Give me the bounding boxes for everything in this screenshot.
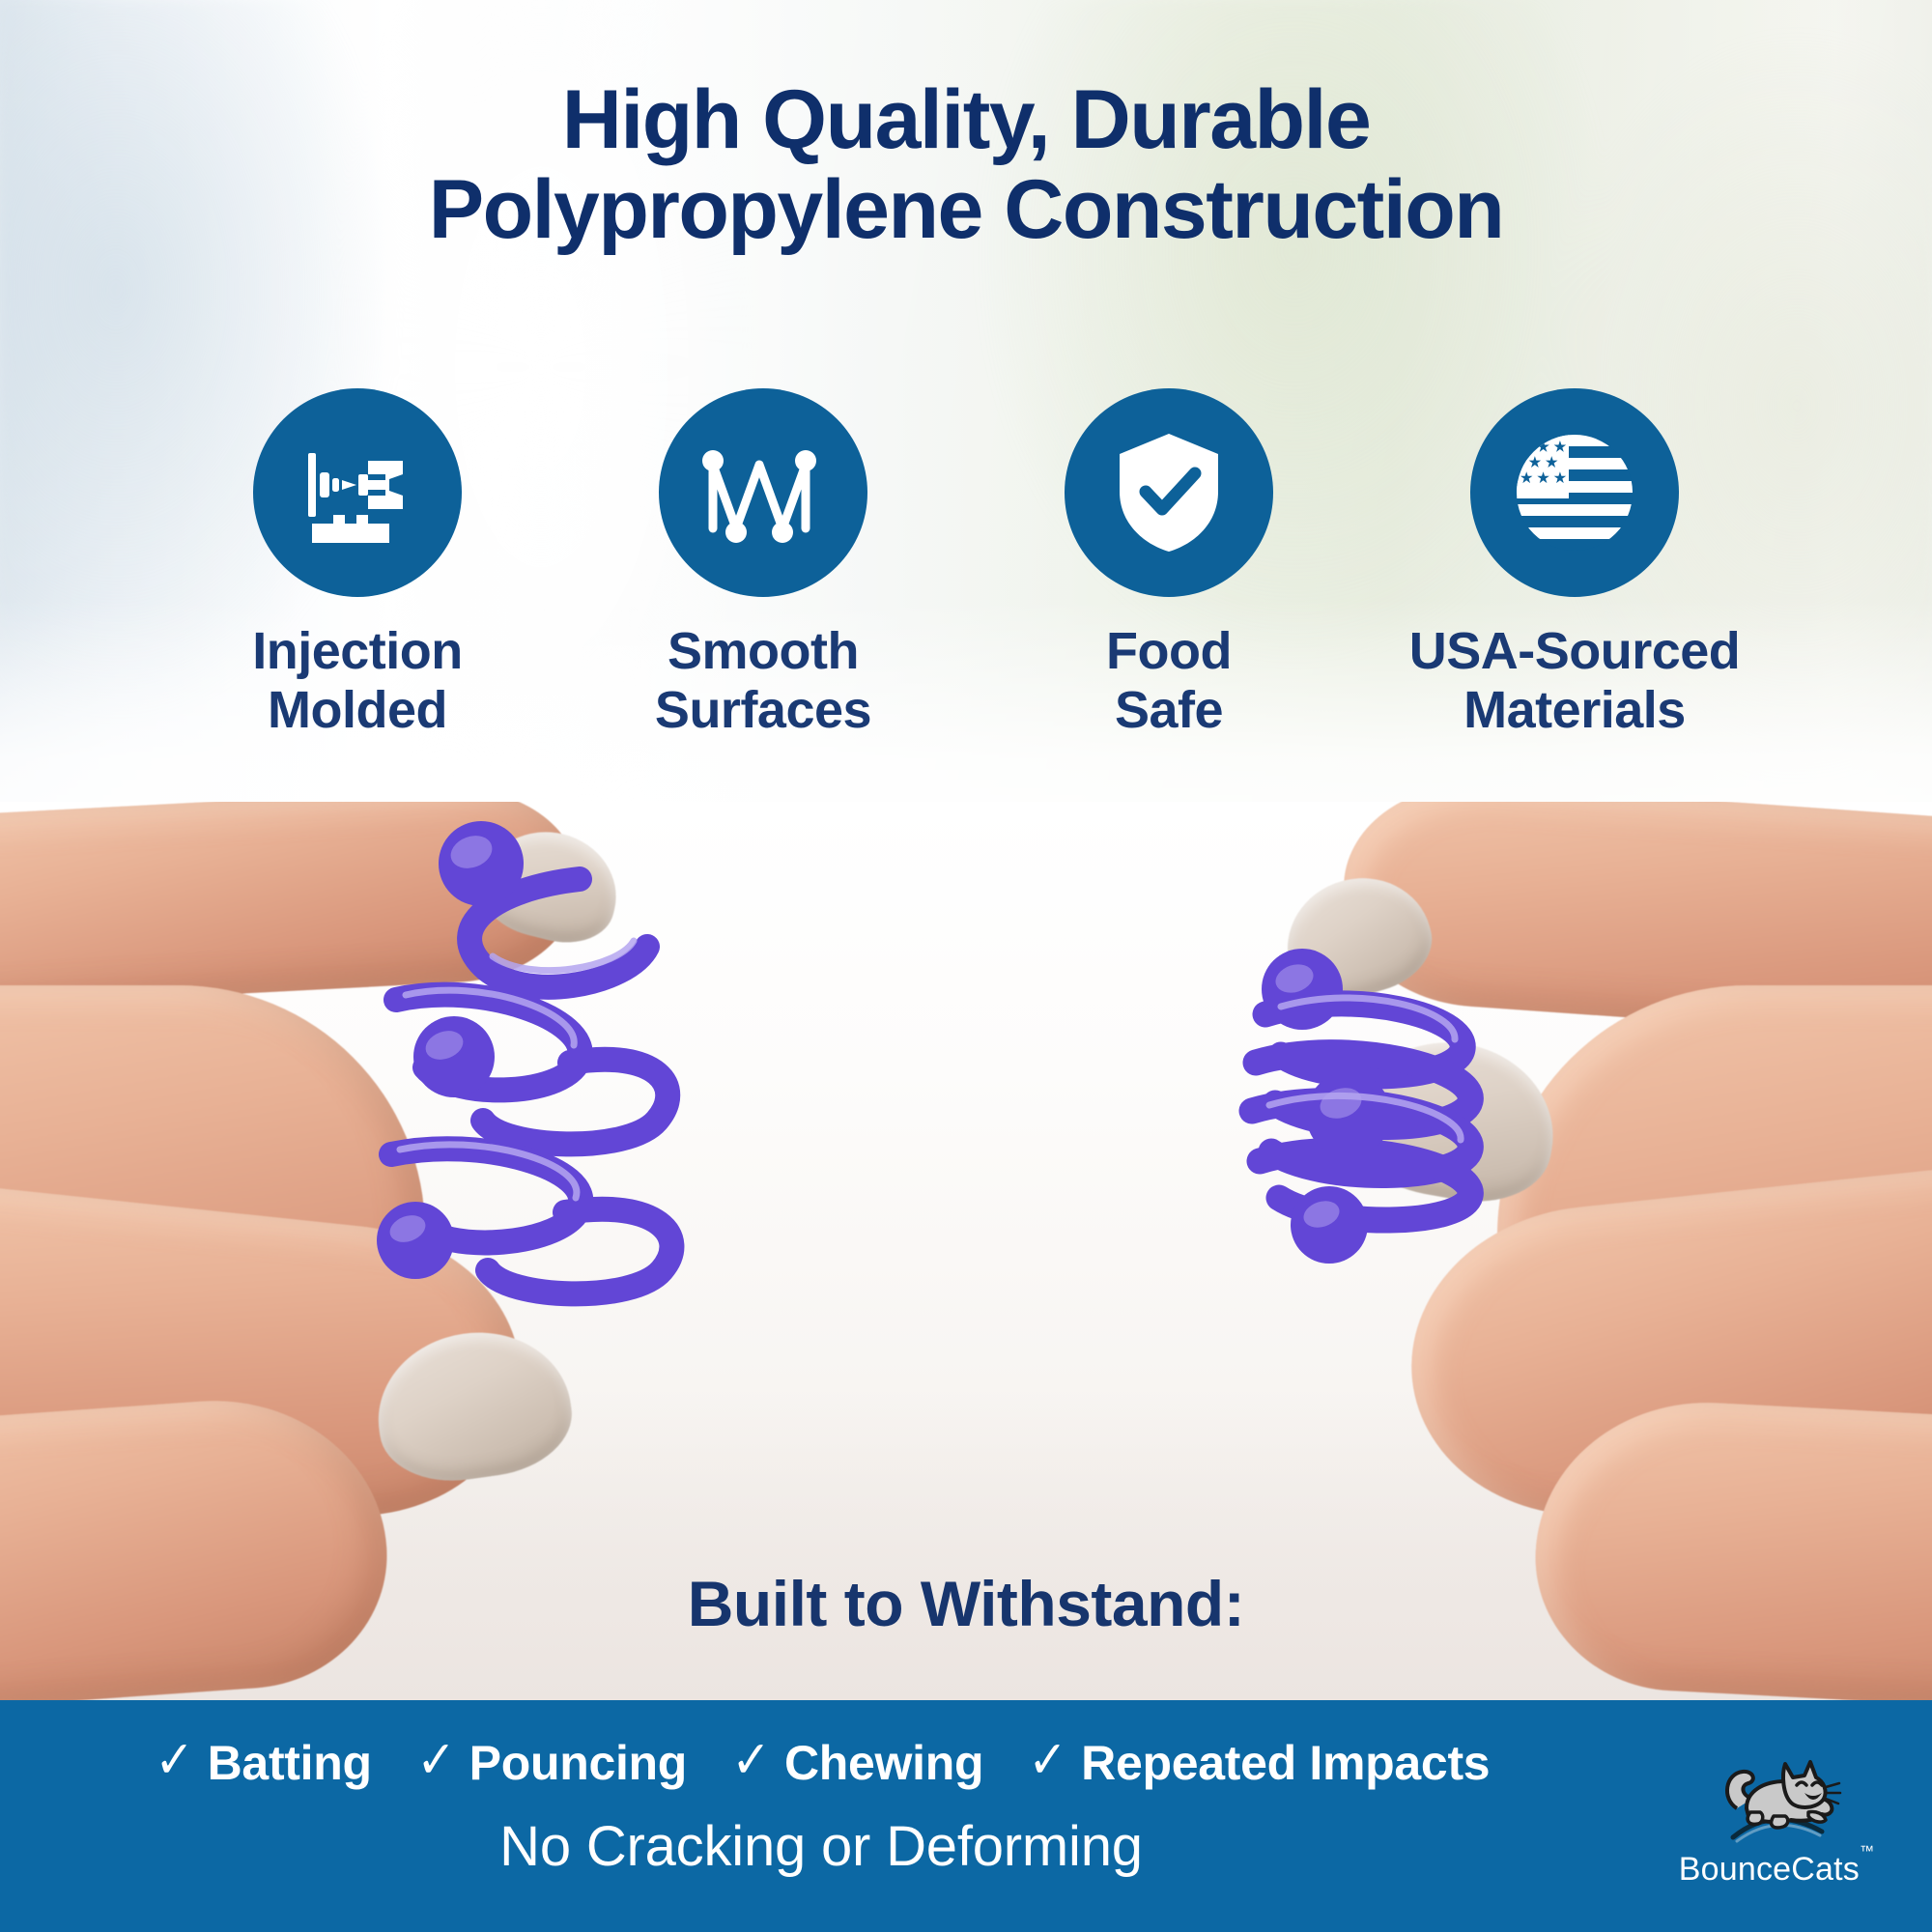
check-icon: ✓	[416, 1734, 455, 1786]
shield-check-icon	[1112, 430, 1226, 555]
headline-line-1: High Quality, Durable	[0, 75, 1932, 165]
logo-wordmark: BounceCats™	[1679, 1851, 1874, 1889]
check-icon: ✓	[155, 1734, 193, 1786]
feature-label: USA-Sourced Materials	[1409, 622, 1741, 740]
check-item-repeated-impacts: ✓ Repeated Impacts	[1026, 1735, 1490, 1791]
logo-name: BounceCats	[1679, 1851, 1860, 1888]
feature-icon-badge	[1470, 388, 1679, 597]
product-spring-stretched	[338, 821, 782, 1362]
feature-list: Injection Molded	[174, 388, 1758, 740]
logo-trademark: ™	[1860, 1843, 1874, 1860]
feature-label: Injection Molded	[252, 622, 463, 740]
check-icon: ✓	[731, 1734, 770, 1786]
feature-injection-molded: Injection Molded	[174, 388, 541, 740]
withstand-title: Built to Withstand:	[0, 1567, 1932, 1640]
product-spring-compressed	[1188, 947, 1575, 1314]
check-label: Chewing	[784, 1735, 983, 1791]
feature-icon-badge	[253, 388, 462, 597]
feature-food-safe: Food Safe	[985, 388, 1352, 740]
leaping-cat-icon	[1704, 1748, 1849, 1849]
banner-subtitle: No Cracking or Deforming	[0, 1814, 1642, 1879]
check-item-pouncing: ✓ Pouncing	[414, 1735, 687, 1791]
feature-label: Smooth Surfaces	[655, 622, 871, 740]
injection-molding-machine-icon	[297, 432, 418, 554]
feature-smooth-surfaces: Smooth Surfaces	[580, 388, 947, 740]
feature-label: Food Safe	[1106, 622, 1232, 740]
product-demo-photo	[0, 802, 1932, 1700]
durability-check-list: ✓ Batting ✓ Pouncing ✓ Chewing ✓ Repeate…	[0, 1735, 1642, 1791]
bottom-banner: ✓ Batting ✓ Pouncing ✓ Chewing ✓ Repeate…	[0, 1700, 1932, 1932]
feature-usa-sourced: USA-Sourced Materials	[1391, 388, 1758, 740]
check-label: Batting	[208, 1735, 372, 1791]
page-title: High Quality, Durable Polypropylene Cons…	[0, 75, 1932, 255]
usa-flag-circle-icon	[1509, 427, 1640, 558]
check-item-batting: ✓ Batting	[153, 1735, 372, 1791]
check-icon: ✓	[1028, 1734, 1066, 1786]
check-label: Repeated Impacts	[1081, 1735, 1490, 1791]
feature-icon-badge	[659, 388, 867, 597]
check-item-chewing: ✓ Chewing	[729, 1735, 983, 1791]
feature-icon-badge	[1065, 388, 1273, 597]
headline-line-2: Polypropylene Construction	[0, 165, 1932, 255]
wavy-spring-smooth-surface-icon	[699, 440, 827, 546]
check-label: Pouncing	[469, 1735, 687, 1791]
infographic-canvas: High Quality, Durable Polypropylene Cons…	[0, 0, 1932, 1932]
brand-logo: BounceCats™	[1656, 1721, 1897, 1915]
